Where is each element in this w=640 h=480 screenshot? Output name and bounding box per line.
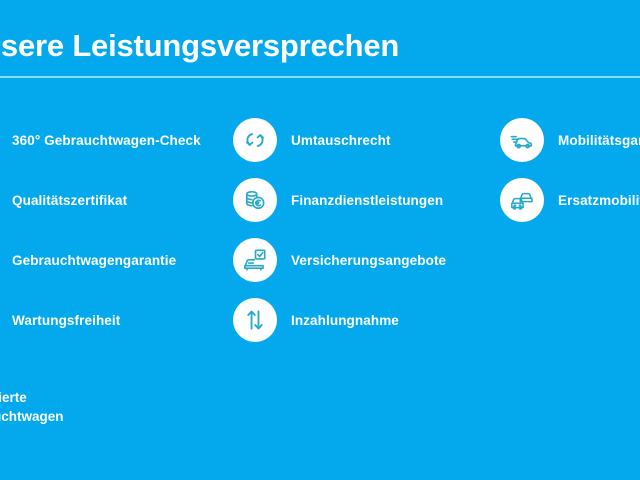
- benefit-label: Wartungsfreiheit: [12, 313, 120, 328]
- two-cars-icon: [500, 178, 544, 222]
- benefit-label: Ersatzmobilität: [558, 193, 640, 208]
- benefit-label: Versicherungsangebote: [291, 253, 446, 268]
- benefit-label: Umtauschrecht: [291, 133, 391, 148]
- slide-root: Unsere Leistungsversprechen 360° Gebrauc…: [0, 0, 640, 480]
- benefit-item[interactable]: Ersatzmobilität: [500, 170, 640, 230]
- up-down-arrows-icon: [233, 298, 277, 342]
- benefit-item[interactable]: Gebrauchtwagengarantie: [0, 230, 254, 290]
- coins-euro-icon: [233, 178, 277, 222]
- benefit-item[interactable]: Finanzdienstleistungen: [233, 170, 533, 230]
- footer-claim: Zertifizierte Gebrauchtwagen: [0, 388, 64, 426]
- benefit-item[interactable]: 360° Gebrauchtwagen-Check: [0, 110, 254, 170]
- benefit-label: 360° Gebrauchtwagen-Check: [12, 133, 201, 148]
- benefit-item[interactable]: Wartungsfreiheit: [0, 290, 254, 350]
- benefit-item[interactable]: Umtauschrecht: [233, 110, 533, 170]
- benefit-item[interactable]: Inzahlungnahme: [233, 290, 533, 350]
- benefit-item[interactable]: Mobilitätsgarantie: [500, 110, 640, 170]
- page-title: Unsere Leistungsversprechen: [0, 28, 640, 64]
- title-divider: [0, 76, 640, 78]
- benefit-item[interactable]: Versicherungsangebote: [233, 230, 533, 290]
- benefit-label: Qualitätszertifikat: [12, 193, 127, 208]
- footer-claim-line-1: Zertifizierte: [0, 388, 64, 407]
- benefit-label: Inzahlungnahme: [291, 313, 399, 328]
- footer-claim-line-2: Gebrauchtwagen: [0, 407, 64, 426]
- benefits-column-middle: Umtauschrecht Finanzdienstleistungen: [233, 110, 533, 350]
- benefits-column-left: 360° Gebrauchtwagen-Check Qualitätszerti…: [0, 110, 254, 350]
- exchange-arrows-icon: [233, 118, 277, 162]
- car-checkbox-icon: [233, 238, 277, 282]
- benefit-label: Mobilitätsgarantie: [558, 133, 640, 148]
- benefits-column-right: Mobilitätsgarantie Ersatzmobilität: [500, 110, 640, 230]
- benefit-item[interactable]: Qualitätszertifikat: [0, 170, 254, 230]
- benefit-label: Finanzdienstleistungen: [291, 193, 443, 208]
- benefit-label: Gebrauchtwagengarantie: [12, 253, 176, 268]
- car-speed-icon: [500, 118, 544, 162]
